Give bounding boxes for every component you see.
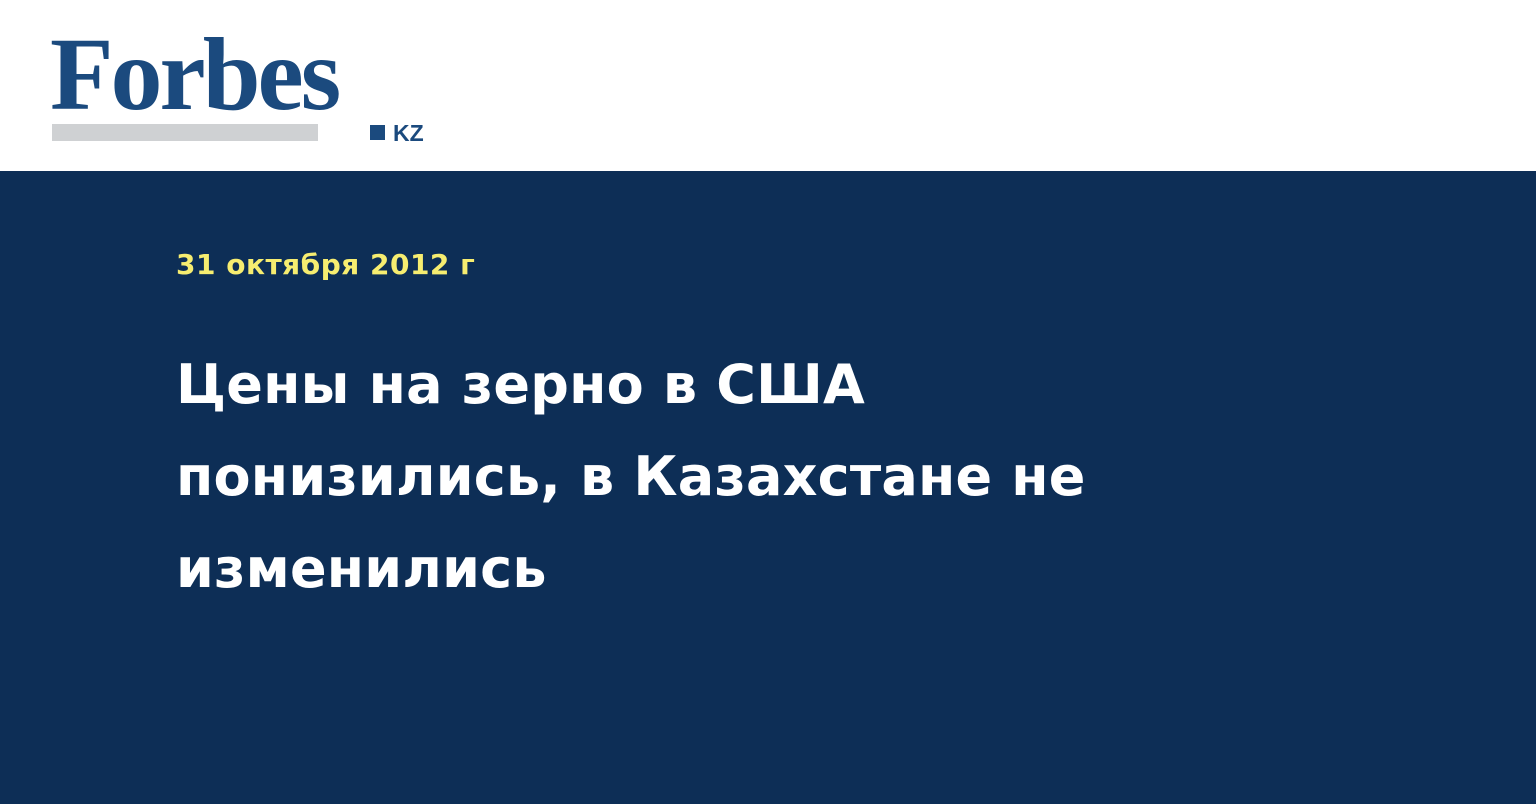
- article-title: Цены на зерно в США понизились, в Казахс…: [176, 339, 1216, 615]
- logo-square-icon: [370, 125, 385, 140]
- logo-underline-bar: [52, 124, 318, 141]
- forbes-kz-logo[interactable]: Forbes KZ: [50, 23, 410, 145]
- article-hero-page: Forbes KZ 31 октября 2012 г Цены на зерн…: [0, 0, 1536, 804]
- site-header: Forbes KZ: [0, 0, 1536, 171]
- article-date: 31 октября 2012 г: [176, 248, 475, 282]
- article-hero: 31 октября 2012 г Цены на зерно в США по…: [0, 171, 1536, 804]
- forbes-wordmark: Forbes: [50, 23, 338, 127]
- logo-kz-suffix: KZ: [393, 122, 424, 145]
